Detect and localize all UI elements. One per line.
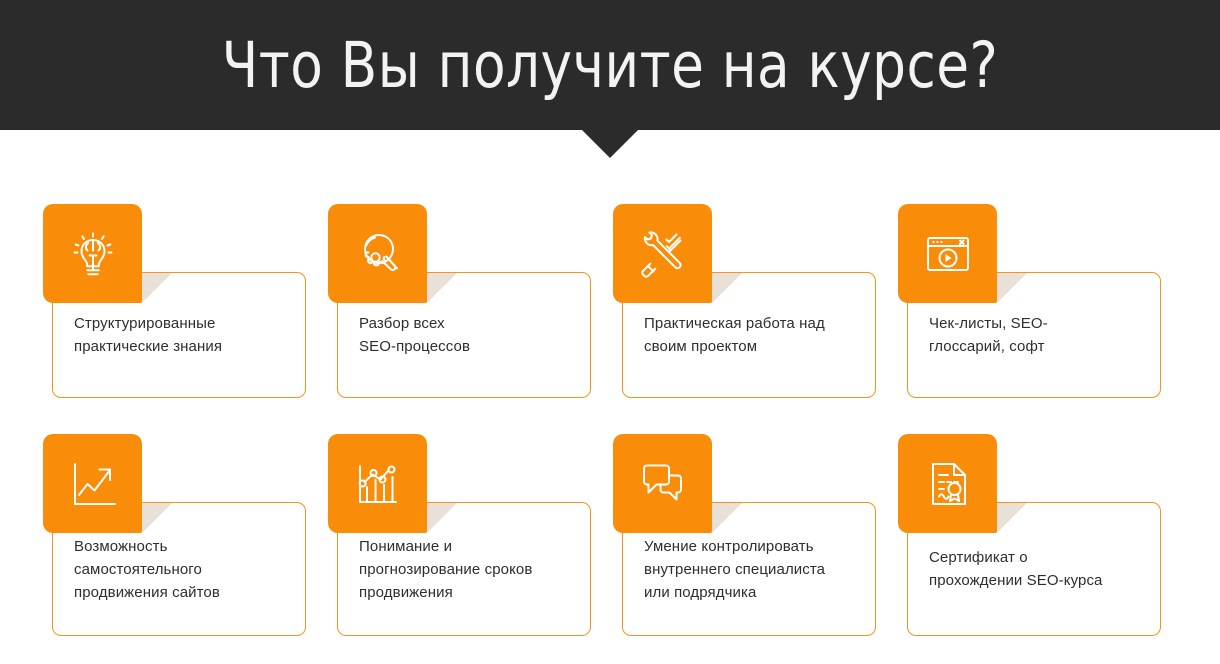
benefit-label: Чек-листы, SEO- глоссарий, софт xyxy=(908,312,1062,358)
benefits-row-1: Структурированные практические знания xyxy=(43,204,1177,434)
bar-chart-points-icon xyxy=(350,456,406,512)
benefit-icon-tile xyxy=(328,434,427,533)
benefit-card-2[interactable]: Разбор всех SEO-процессов xyxy=(328,204,592,426)
benefit-label: Разбор всех SEO-процессов xyxy=(338,312,484,358)
chat-bubbles-icon xyxy=(635,456,691,512)
magnifier-gear-icon xyxy=(350,226,406,282)
benefit-icon-tile xyxy=(898,204,997,303)
card-fold-corner xyxy=(142,503,172,533)
benefit-label: Практическая работа над своим проектом xyxy=(623,312,839,358)
benefit-card-4[interactable]: Чек-листы, SEO- глоссарий, софт xyxy=(898,204,1162,426)
card-fold-corner xyxy=(712,503,742,533)
tools-wrench-screwdriver-icon xyxy=(635,226,691,282)
benefit-label: Возможность самостоятельного продвижения… xyxy=(53,535,234,604)
benefit-icon-tile xyxy=(898,434,997,533)
growth-chart-arrow-icon xyxy=(65,456,121,512)
browser-play-icon xyxy=(920,226,976,282)
benefit-card-1[interactable]: Структурированные практические знания xyxy=(43,204,307,426)
header-down-triangle-icon xyxy=(582,130,638,158)
benefit-card-8[interactable]: Сертификат о прохождении SEO-курса xyxy=(898,434,1162,656)
benefit-card-5[interactable]: Возможность самостоятельного продвижения… xyxy=(43,434,307,656)
card-fold-corner xyxy=(712,273,742,303)
benefits-grid: Структурированные практические знания xyxy=(43,204,1177,664)
benefit-icon-tile xyxy=(43,204,142,303)
benefit-icon-tile xyxy=(613,204,712,303)
benefit-label: Умение контролировать внутреннего специа… xyxy=(623,535,839,604)
card-fold-corner xyxy=(142,273,172,303)
benefit-card-7[interactable]: Умение контролировать внутреннего специа… xyxy=(613,434,877,656)
benefit-card-3[interactable]: Практическая работа над своим проектом xyxy=(613,204,877,426)
certificate-document-icon xyxy=(920,456,976,512)
card-fold-corner xyxy=(427,273,457,303)
benefit-label: Структурированные практические знания xyxy=(53,312,236,358)
card-fold-corner xyxy=(427,503,457,533)
card-fold-corner xyxy=(997,273,1027,303)
benefits-row-2: Возможность самостоятельного продвижения… xyxy=(43,434,1177,664)
benefit-icon-tile xyxy=(43,434,142,533)
benefit-label: Сертификат о прохождении SEO-курса xyxy=(908,546,1117,592)
page-title: Что Вы получите на курсе? xyxy=(37,0,1184,130)
lightbulb-brain-icon xyxy=(65,226,121,282)
benefit-icon-tile xyxy=(613,434,712,533)
benefit-icon-tile xyxy=(328,204,427,303)
card-fold-corner xyxy=(997,503,1027,533)
benefit-label: Понимание и прогнозирование сроков продв… xyxy=(338,535,546,604)
benefit-card-6[interactable]: Понимание и прогнозирование сроков продв… xyxy=(328,434,592,656)
